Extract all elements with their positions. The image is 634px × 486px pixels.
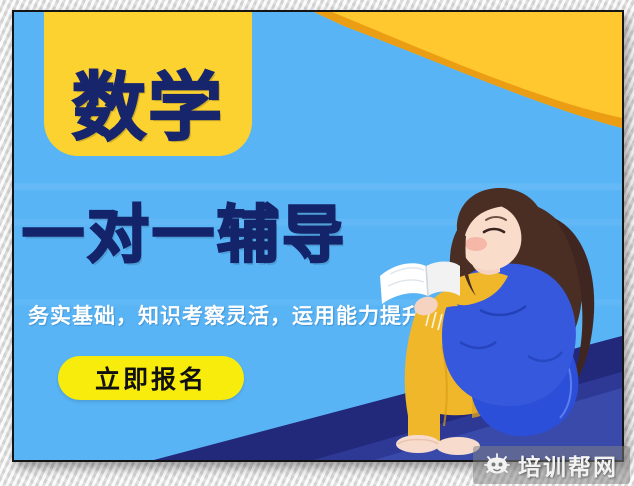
watermark: 培训帮网 bbox=[473, 446, 630, 484]
enroll-now-label: 立即报名 bbox=[95, 360, 207, 396]
watermark-label: 培训帮网 bbox=[518, 448, 618, 482]
foot-left bbox=[396, 435, 440, 453]
enroll-now-button[interactable]: 立即报名 bbox=[58, 356, 244, 400]
image-canvas: 数学 一对一辅导 务实基础，知识考察灵活，运用能力提升 立即报名 bbox=[0, 0, 634, 486]
cheek-blush bbox=[465, 237, 487, 251]
subject-badge: 数学 bbox=[44, 10, 252, 156]
course-poster: 数学 一对一辅导 务实基础，知识考察灵活，运用能力提升 立即报名 bbox=[12, 10, 624, 462]
sun-face-icon bbox=[483, 452, 511, 478]
seated-girl-reading-illustration bbox=[368, 160, 624, 460]
subject-badge-label: 数学 bbox=[72, 73, 224, 144]
poster-subtitle: 务实基础，知识考察灵活，运用能力提升 bbox=[28, 300, 424, 330]
